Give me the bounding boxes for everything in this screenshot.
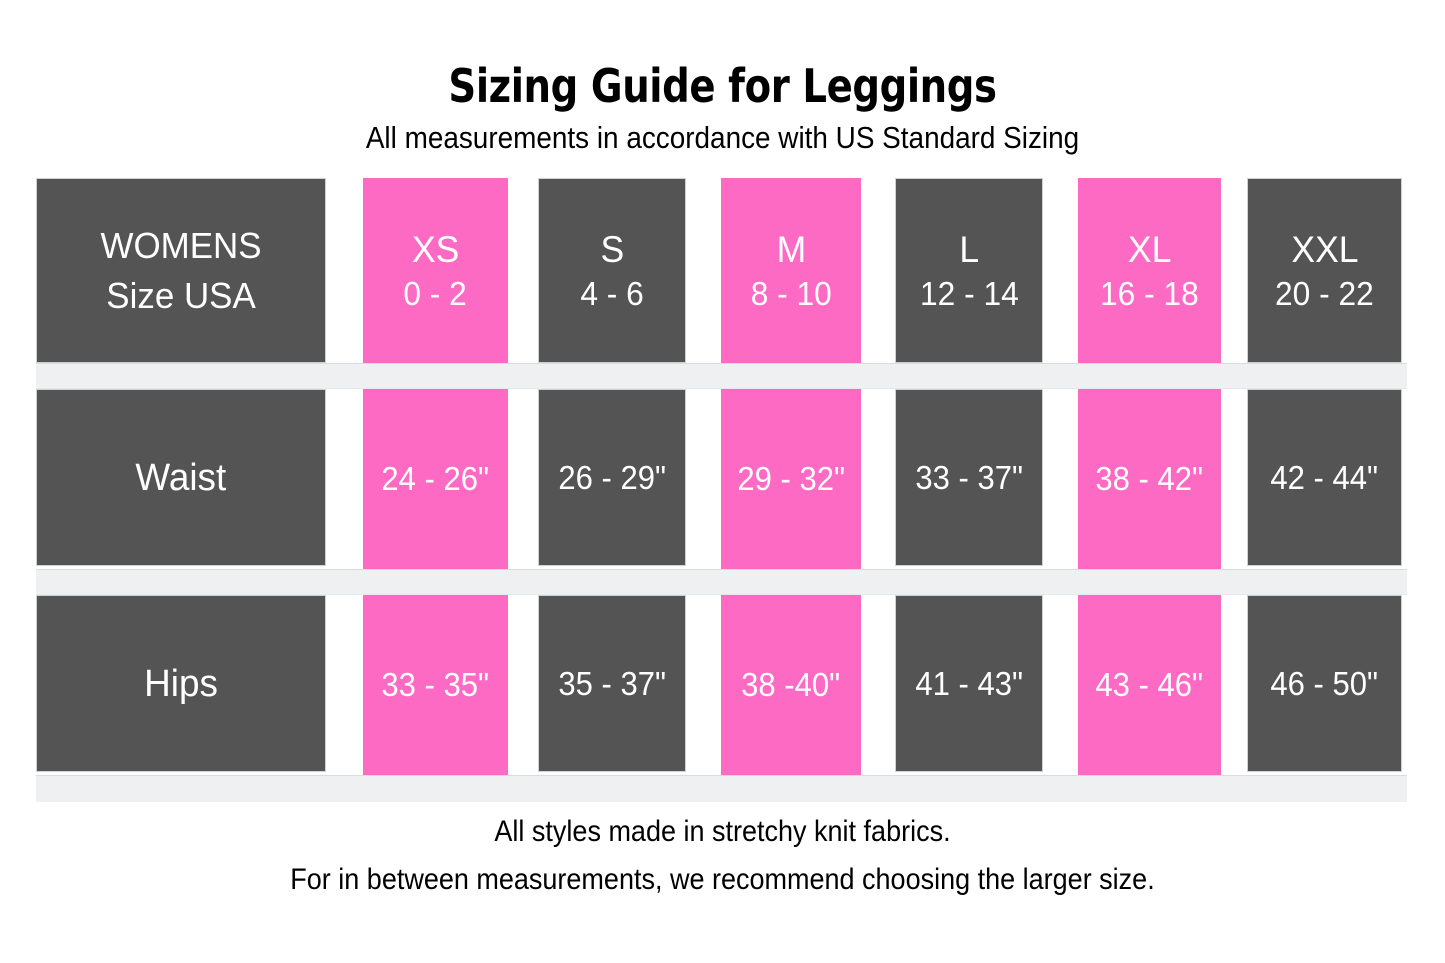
column-spacer <box>508 389 538 569</box>
column-spacer <box>686 595 721 775</box>
column-spacer <box>1043 389 1078 569</box>
table-row-waist: Waist 24 - 26" 26 - 29" 29 - 32" 33 - 37… <box>36 389 1407 569</box>
cell-hips-xxl: 46 - 50" <box>1247 595 1402 772</box>
row-label-hips: Hips <box>36 595 326 772</box>
cell-value: 38 - 42" <box>1096 458 1204 500</box>
cell-waist-l: 33 - 37" <box>895 389 1043 566</box>
size-range-s: 4 - 6 <box>580 273 643 315</box>
row-separator-band <box>36 363 1407 389</box>
column-spacer <box>1043 595 1078 775</box>
header-cell-size-xs: XS 0 - 2 <box>363 178 508 363</box>
size-range-l: 12 - 14 <box>920 273 1019 315</box>
size-name-m: M <box>776 227 806 273</box>
cell-value: 35 - 37" <box>558 663 666 705</box>
cell-value: 38 -40" <box>742 664 841 706</box>
cell-hips-s: 35 - 37" <box>538 595 686 772</box>
sizing-table: WOMENS Size USA XS 0 - 2 S 4 - 6 M 8 - 1… <box>36 178 1407 802</box>
size-range-m: 8 - 10 <box>750 273 831 315</box>
column-spacer <box>686 389 721 569</box>
column-spacer <box>686 178 721 363</box>
size-name-xs: XS <box>412 227 459 273</box>
column-spacer <box>326 389 363 569</box>
header-cell-size-xl: XL 16 - 18 <box>1078 178 1221 363</box>
cell-waist-s: 26 - 29" <box>538 389 686 566</box>
header-cell-corner-label: WOMENS Size USA <box>36 178 326 363</box>
cell-waist-xxl: 42 - 44" <box>1247 389 1402 566</box>
cell-hips-l: 41 - 43" <box>895 595 1043 772</box>
column-spacer <box>1221 389 1247 569</box>
table-footer-band <box>36 775 1407 802</box>
column-spacer <box>861 389 895 569</box>
cell-value: 26 - 29" <box>558 457 666 499</box>
note-line-2: For in between measurements, we recommen… <box>72 856 1373 904</box>
cell-value: 42 - 44" <box>1271 457 1379 499</box>
cell-hips-xs: 33 - 35" <box>363 595 508 775</box>
column-spacer <box>508 595 538 775</box>
column-spacer <box>326 178 363 363</box>
cell-waist-xl: 38 - 42" <box>1078 389 1221 569</box>
header-cell-size-l: L 12 - 14 <box>895 178 1043 363</box>
column-spacer <box>1221 595 1247 775</box>
cell-value: 41 - 43" <box>915 663 1023 705</box>
cell-hips-xl: 43 - 46" <box>1078 595 1221 775</box>
heading-block: Sizing Guide for Leggings All measuremen… <box>0 58 1445 158</box>
table-header-row: WOMENS Size USA XS 0 - 2 S 4 - 6 M 8 - 1… <box>36 178 1407 363</box>
sizing-guide-page: Sizing Guide for Leggings All measuremen… <box>0 0 1445 963</box>
size-range-xs: 0 - 2 <box>404 273 467 315</box>
note-line-1: All styles made in stretchy knit fabrics… <box>72 808 1373 856</box>
cell-value: 46 - 50" <box>1271 663 1379 705</box>
column-spacer <box>508 178 538 363</box>
header-cell-size-m: M 8 - 10 <box>721 178 861 363</box>
header-cell-size-xxl: XXL 20 - 22 <box>1247 178 1402 363</box>
row-label-text: Hips <box>144 661 218 707</box>
column-spacer <box>861 595 895 775</box>
column-spacer <box>1043 178 1078 363</box>
cell-value: 33 - 35" <box>382 664 490 706</box>
cell-value: 43 - 46" <box>1096 664 1204 706</box>
row-label-text: Waist <box>136 455 227 501</box>
table-row-hips: Hips 33 - 35" 35 - 37" 38 -40" 41 - 43" … <box>36 595 1407 775</box>
column-spacer <box>1221 178 1247 363</box>
size-range-xxl: 20 - 22 <box>1275 273 1374 315</box>
size-name-s: S <box>600 227 624 273</box>
cell-value: 33 - 37" <box>915 457 1023 499</box>
column-spacer <box>326 595 363 775</box>
size-range-xl: 16 - 18 <box>1100 273 1199 315</box>
page-subtitle: All measurements in accordance with US S… <box>72 118 1373 158</box>
row-label-waist: Waist <box>36 389 326 566</box>
column-spacer <box>861 178 895 363</box>
row-separator-band <box>36 569 1407 595</box>
cell-waist-xs: 24 - 26" <box>363 389 508 569</box>
cell-value: 24 - 26" <box>382 458 490 500</box>
size-name-l: L <box>959 227 979 273</box>
size-name-xxl: XXL <box>1291 227 1358 273</box>
header-cell-size-s: S 4 - 6 <box>538 178 686 363</box>
corner-label-line2: Size USA <box>106 271 255 321</box>
cell-hips-m: 38 -40" <box>721 595 861 775</box>
cell-waist-m: 29 - 32" <box>721 389 861 569</box>
corner-label-line1: WOMENS <box>100 221 261 271</box>
cell-value: 29 - 32" <box>737 458 845 500</box>
page-title: Sizing Guide for Leggings <box>116 58 1330 114</box>
size-name-xl: XL <box>1128 227 1171 273</box>
notes-block: All styles made in stretchy knit fabrics… <box>0 808 1445 904</box>
